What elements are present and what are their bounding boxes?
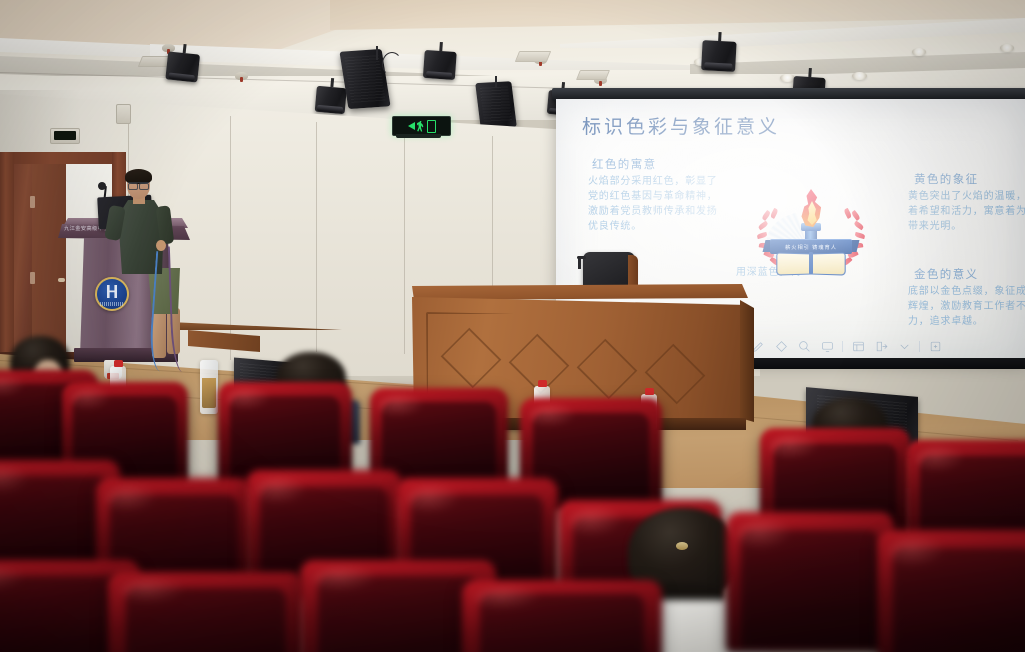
hair-accessory — [676, 542, 688, 550]
eraser-icon[interactable] — [771, 337, 791, 355]
share-screen-icon[interactable] — [871, 337, 891, 355]
chair-armrest-post — [578, 256, 581, 269]
slide-body-gold: 底部以金色点缀，象征成果的辉煌，激励教育工作者不断努力，追求卓越。 — [908, 284, 1025, 329]
door-hinge — [30, 196, 35, 208]
presenter-hand — [156, 240, 166, 251]
conference-table-side — [740, 300, 754, 422]
door-hinge — [30, 272, 35, 284]
stage-light — [315, 83, 347, 112]
wall-panel-seam — [316, 122, 317, 352]
magnifier-icon[interactable] — [794, 337, 814, 355]
slideshow-toolbar[interactable] — [748, 337, 945, 355]
table-diamond-inlay — [577, 339, 638, 400]
laser-pointer-icon[interactable] — [817, 337, 837, 355]
audience-seat[interactable] — [726, 512, 894, 652]
stage-light — [166, 48, 201, 79]
microphone-head — [98, 182, 106, 190]
running-person-icon — [417, 121, 425, 132]
door-frame-top — [0, 152, 126, 164]
end-show-icon[interactable] — [925, 337, 945, 355]
speaker-hanger — [495, 76, 497, 88]
audience-seat[interactable] — [878, 530, 1025, 652]
slide-title: 标识色彩与象征意义 — [582, 112, 780, 139]
exit-sign-base — [396, 134, 441, 138]
downlight — [852, 72, 867, 80]
slide-heading-yellow: 黄色的象征 — [914, 171, 979, 187]
executive-chair-trim — [628, 255, 638, 289]
audience-seat[interactable] — [462, 580, 662, 652]
slide-body-red: 火焰部分采用红色，彰显了党的红色基因与革命精神，激励着党员教师传承和发扬优良传统… — [588, 174, 724, 234]
thermos-flask — [200, 360, 218, 414]
downlight — [912, 48, 926, 56]
slide-heading-gold: 金色的意义 — [914, 266, 979, 282]
audience-seat[interactable] — [108, 572, 304, 652]
stage-light — [701, 37, 737, 69]
school-logo-emblem: 薪火相引 铸魂育人 — [761, 183, 861, 277]
wall-panel-seam — [404, 130, 405, 354]
wall-panel-seam — [230, 116, 231, 360]
door-handle[interactable] — [58, 278, 65, 282]
door-leaf-main[interactable] — [32, 164, 66, 360]
sprinkler-head — [235, 72, 248, 80]
air-vent — [515, 51, 551, 62]
toolbar-divider — [842, 341, 843, 352]
slide-heading-red: 红色的寓意 — [592, 156, 657, 172]
slide-body-yellow: 黄色突出了火焰的温暖，代表着希望和活力，寓意着为师生带来光明。 — [908, 189, 1025, 234]
air-vent — [576, 70, 610, 80]
exit-arrow-icon — [408, 122, 415, 130]
door-frame-left — [0, 152, 14, 360]
ceiling-speaker — [475, 81, 517, 129]
emblem-motto: 薪火相引 铸魂育人 — [785, 244, 837, 251]
podium-school-crest — [95, 277, 129, 311]
table-diamond-inlay — [441, 328, 502, 389]
conference-table-top — [412, 284, 748, 300]
chevron-down-icon[interactable] — [894, 337, 914, 355]
speaker-hanger — [376, 46, 378, 60]
speaker-cable — [382, 52, 402, 76]
stage-light — [423, 47, 457, 77]
wall-display-unit — [50, 128, 80, 144]
presenter-glasses — [128, 182, 149, 188]
door-leaf-narrow[interactable] — [14, 164, 32, 360]
lecture-hall-photo: 标识色彩与象征意义 红色的寓意 火焰部分采用红色，彰显了党的红色基因与革命精神，… — [0, 0, 1025, 652]
open-book-icon — [777, 253, 845, 275]
downlight — [1000, 44, 1014, 52]
exit-door-icon — [427, 120, 436, 133]
toolbar-divider — [919, 341, 920, 352]
presenter-view-icon[interactable] — [848, 337, 868, 355]
wall-sensor — [116, 104, 131, 124]
wall-panel-seam — [492, 136, 493, 286]
emergency-exit-sign — [392, 116, 451, 136]
